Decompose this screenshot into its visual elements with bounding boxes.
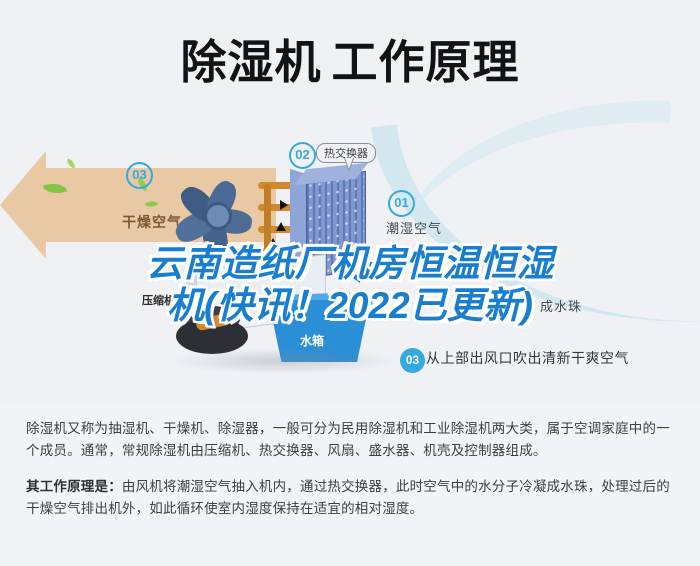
- infographic-hero: 除湿机工作原理 干燥空气: [0, 0, 700, 406]
- paragraph-2-lead: 其工作原理是：: [26, 479, 122, 494]
- badge-03-caption: 03: [400, 348, 425, 373]
- article-body: 除湿机又称为抽湿机、干燥机、除湿器，一般可分为民用除湿机和工业除湿机两大类，属于…: [0, 406, 700, 566]
- flow-arrow-icon: [268, 238, 278, 247]
- page-title-part2: 工作原理: [332, 36, 520, 88]
- dry-air-label: 干燥空气: [122, 212, 182, 232]
- page-title-part1: 除湿机: [181, 36, 322, 88]
- condensation-label: 成水珠: [540, 296, 582, 315]
- water-tank-label: 水箱: [300, 332, 324, 349]
- compressor-label: 压缩机: [142, 292, 175, 308]
- badge-02: 02: [289, 142, 316, 169]
- fan-hub: [204, 202, 232, 230]
- paragraph-2-rest: 由风机将潮湿空气抽入机内，通过热交换器，此时空气中的水分子冷凝成水珠，处理过后的…: [26, 479, 670, 516]
- paragraph-2: 其工作原理是：由风机将潮湿空气抽入机内，通过热交换器，此时空气中的水分子冷凝成水…: [26, 476, 674, 520]
- air-intake-arrow-icon: [358, 262, 402, 276]
- moist-air-label: 潮湿空气: [386, 218, 442, 237]
- badge-03-dry-air: 03: [126, 162, 153, 189]
- page-root: 除湿机工作原理 干燥空气: [0, 0, 700, 566]
- badge-01: 01: [388, 190, 415, 217]
- callout-pointer-icon: [344, 158, 354, 172]
- machine-shadow: [168, 348, 398, 374]
- moist-airflow-swoosh-secondary: [395, 91, 671, 272]
- flow-arrow-icon: [276, 222, 286, 231]
- fan-icon: [176, 176, 264, 262]
- caption-03-text: 从上部出风口吹出清新干爽空气: [426, 348, 629, 368]
- page-title: 除湿机工作原理: [0, 34, 700, 90]
- paragraph-1: 除湿机又称为抽湿机、干燥机、除湿器，一般可分为民用除湿机和工业除湿机两大类，属于…: [26, 418, 674, 462]
- flow-arrow-icon: [280, 200, 288, 210]
